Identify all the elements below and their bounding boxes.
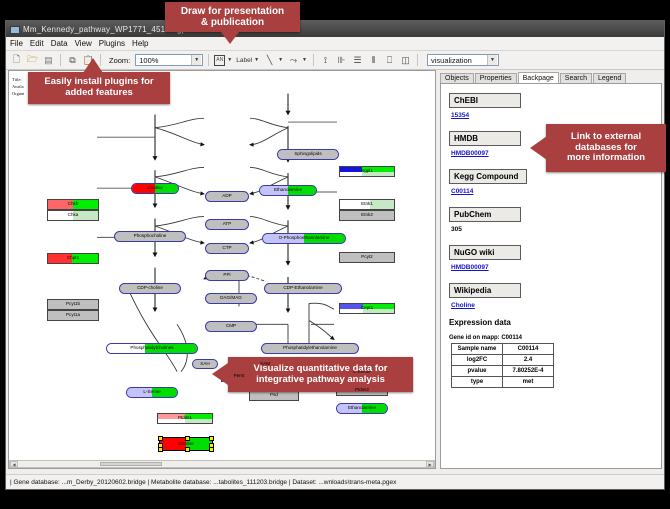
metabolite-node[interactable]: Choline [131,183,179,194]
scroll-left-icon[interactable]: ◀ [10,461,18,467]
group-icon[interactable]: ⎕ [383,54,396,67]
metabolite-node[interactable]: CTP [205,243,249,254]
gene-id-label: Gene id on mapp: C00114 [449,335,661,341]
canvas-meta-organism: Organi [12,91,24,96]
toolbar: 🗋 🗁 ▤ ⧉ 📋 Zoom: 100% ▼ AN ▼ Label ▼ ╲ ▼ … [6,51,664,70]
metabolite-node[interactable]: ADP [205,191,249,202]
align-left-icon[interactable]: ⊪ [335,54,348,67]
gene-node[interactable]: Pcyt2 [339,252,395,263]
db-header-chebi: ChEBI [449,93,521,108]
db-link-wikipedia[interactable]: Choline [451,302,661,309]
metabolite-node[interactable]: Sphingolipids [277,149,339,160]
visualization-combo[interactable]: visualization ▼ [427,54,499,66]
metabolite-node[interactable]: DAG/MAG [205,293,257,304]
table-cell-key: pvalue [452,366,503,377]
datanode-icon[interactable]: AN [214,55,225,66]
menu-bar: File Edit Data View Plugins Help [6,37,664,51]
table-cell-value: met [503,377,554,388]
resize-handle-ne[interactable] [209,436,214,441]
open-folder-icon[interactable]: 🗁 [26,54,39,67]
node-label: ATP [223,222,232,227]
gene-node[interactable]: Sgpl1 [339,166,395,177]
node-label: Choline [178,442,194,447]
resize-handle-sw[interactable] [158,447,163,452]
metabolite-node[interactable]: L-Serine [126,387,178,398]
table-row: pvalue 7.80252E-4 [452,366,554,377]
toolbar-separator-1 [60,54,61,66]
table-cell-key: type [452,377,503,388]
draw-callout: Draw for presentation & publication [165,2,300,32]
tab-objects[interactable]: Objects [440,73,474,83]
gene-node[interactable]: Pcyt1a [47,310,99,321]
table-cell-key: Sample name [452,344,503,355]
distribute-icon[interactable]: ⦀ [367,54,380,67]
resize-handle-s[interactable] [185,447,190,452]
status-bar: | Gene database: ...m_Derby_20120602.bri… [6,474,664,489]
node-label: CMP [226,324,236,329]
chevron-down-icon-2: ▼ [487,55,497,65]
screenshot-root: Mm_Kennedy_pathway_WP1771_45176.gpml Fil… [0,0,670,509]
node-label: PPi [223,273,230,278]
gene-node[interactable]: Pcyt1b [47,299,99,310]
metabolite-node[interactable]: Phosphatidylethanolamine [261,343,359,354]
node-label: O-Phosphoethanolamine [279,236,330,241]
anchor-icon[interactable]: ⤳ [287,54,300,67]
align-center-icon[interactable]: ⟟ [319,54,332,67]
canvas-meta-title: Title: [12,77,22,82]
plugins-callout: Easily install plugins for added feature… [28,72,170,104]
node-label: SAH [200,362,209,367]
draw-callout-text: Draw for presentation & publication [181,6,284,29]
canvas-hscrollbar[interactable]: ◀ ▶ [9,460,435,468]
node-label: DAG/MAG [220,296,242,301]
line-dropdown-icon[interactable]: ▼ [278,57,283,63]
new-file-icon[interactable]: 🗋 [10,54,23,67]
table-cell-key: log2FC [452,355,503,366]
tab-legend[interactable]: Legend [593,73,626,83]
app-icon [9,24,19,34]
zoom-label: Zoom: [109,56,130,65]
datanode-dropdown-icon[interactable]: ▼ [227,57,232,63]
metabolite-node[interactable]: CDP-choline [119,283,181,294]
db-link-chebi[interactable]: 15354 [451,112,661,119]
db-header-pubchem: PubChem [449,207,521,222]
table-cell-value: C00114 [503,344,554,355]
node-label: Pcyt1a [66,313,80,318]
metabolite-node[interactable]: CDP-Ethanolamine [264,283,342,294]
node-label: Choline [147,186,163,191]
node-label: Phosphocholine [134,234,167,239]
toolbar-separator-3 [208,54,209,66]
draw-callout-arrow [221,32,239,44]
gene-node[interactable]: Cept1 [339,303,395,314]
scroll-right-icon[interactable]: ▶ [426,461,434,467]
visualize-callout-arrow [212,363,228,385]
node-label: Chka [68,213,79,218]
copy-icon[interactable]: ⧉ [66,54,79,67]
resize-handle-nw[interactable] [158,436,163,441]
node-label: Pcyt2 [361,255,373,260]
anchor-dropdown-icon[interactable]: ▼ [302,57,307,63]
node-label: Ptdss1 [178,416,192,421]
visualize-callout: Visualize quantitative data for integrat… [228,357,413,392]
gene-node[interactable]: Ptdss1 [157,413,213,424]
menu-item-edit[interactable]: Edit [30,39,44,48]
zoom-combo[interactable]: 100% ▼ [135,54,203,66]
menu-item-file[interactable]: File [10,39,23,48]
node-label: Chpt1 [67,256,79,261]
pathway-canvas[interactable]: Title: Availa Organi [8,70,436,469]
node-label: Psd [270,393,278,398]
db-header-hmdb: HMDB [449,131,521,146]
node-label: CDP-Ethanolamine [283,286,322,291]
expression-data-title: Expression data [449,318,661,327]
table-row: log2FC 2.4 [452,355,554,366]
menu-item-help[interactable]: Help [132,39,148,48]
node-label: Pcyt1b [66,302,80,307]
node-label: Etnk2 [361,213,373,218]
metabolite-node[interactable]: ATP [205,219,249,230]
metabolite-node[interactable]: CMP [205,321,257,332]
metabolite-node[interactable]: Phosphocholine [114,231,186,242]
stack-icon[interactable]: ☰ [351,54,364,67]
zoom-value: 100% [139,56,158,65]
db-link-kegg[interactable]: C00114 [451,188,661,195]
menu-item-view[interactable]: View [75,39,92,48]
link-callout: Link to external databases for more info… [546,124,666,172]
link-callout-arrow [530,136,547,160]
node-label: CTP [222,246,231,251]
toolbar-separator-4 [313,54,314,66]
node-label: ADP [222,194,231,199]
visualization-value: visualization [431,56,472,65]
chevron-down-icon: ▼ [191,55,201,65]
node-label: Ptdss2 [355,388,369,393]
label-dropdown-icon[interactable]: ▼ [254,57,259,63]
plugins-callout-arrow [83,58,103,73]
tab-properties[interactable]: Properties [475,73,517,83]
menu-item-plugins[interactable]: Plugins [99,39,125,48]
metabolite-node[interactable]: O-Phosphoethanolamine [262,233,346,244]
menu-item-data[interactable]: Data [51,39,68,48]
gene-node[interactable]: Etnk1 [339,199,395,210]
selected-node[interactable]: Choline [159,437,213,451]
table-row: Sample name C00114 [452,344,554,355]
panel-tabs: Objects Properties Backpage Search Legen… [438,70,662,83]
gene-node[interactable]: Chkb [47,199,99,210]
tab-search[interactable]: Search [560,73,592,83]
db-header-kegg: Kegg Compound [449,169,527,184]
node-label: Cept1 [361,306,373,311]
table-row: type met [452,377,554,388]
node-label: Sphingolipids [294,152,321,157]
canvas-hscroll-thumb[interactable] [100,462,162,466]
title-bar: Mm_Kennedy_pathway_WP1771_45176.gpml [6,21,664,37]
link-callout-text: Link to external databases for more info… [567,132,645,165]
canvas-meta-availability: Availa [12,84,24,89]
toolbar-separator-5 [417,54,418,66]
save-icon[interactable]: ▤ [42,54,55,67]
gene-node[interactable]: Chka [47,210,99,221]
plugins-callout-text: Easily install plugins for added feature… [44,77,153,99]
db-link-nugo[interactable]: HMDB00097 [451,264,661,271]
node-label: Phosphatidylethanolamine [283,346,337,351]
node-label: Pemt [234,374,245,379]
node-label: Ethanolamine [274,188,302,193]
node-label: Ethanolamine [348,406,376,411]
node-label: L-Serine [353,370,370,375]
table-cell-value: 7.80252E-4 [503,366,554,377]
node-label: Etnk1 [361,202,373,207]
db-header-nugo: NuGO wiki [449,245,521,260]
resize-handle-se[interactable] [209,447,214,452]
order-icon[interactable]: ◫ [399,54,412,67]
line-icon[interactable]: ╲ [263,54,276,67]
node-label: Phosphatidylcholines [130,346,173,351]
node-label: Sgpl1 [361,169,373,174]
metabolite-node[interactable]: PPi [205,270,249,281]
node-label: CDP-choline [137,286,163,291]
db-value-pubchem: 305 [451,226,661,233]
gene-node[interactable]: Chpt1 [47,253,99,264]
metabolite-node[interactable]: Ethanolamine [336,403,388,414]
gene-node[interactable]: Etnk2 [339,210,395,221]
label-tool-label[interactable]: Label [236,57,252,64]
node-label: L-Serine [143,390,160,395]
node-label: SAM [260,362,270,367]
table-cell-value: 2.4 [503,355,554,366]
db-header-wikipedia: Wikipedia [449,283,521,298]
metabolite-node[interactable]: Phosphatidylcholines [106,343,198,354]
node-label: Chkb [68,202,79,207]
expression-table: Sample name C00114 log2FC 2.4 pvalue 7.8… [451,343,554,388]
status-text: | Gene database: ...m_Derby_20120602.bri… [6,479,396,486]
metabolite-node[interactable]: Ethanolamine [259,185,317,196]
